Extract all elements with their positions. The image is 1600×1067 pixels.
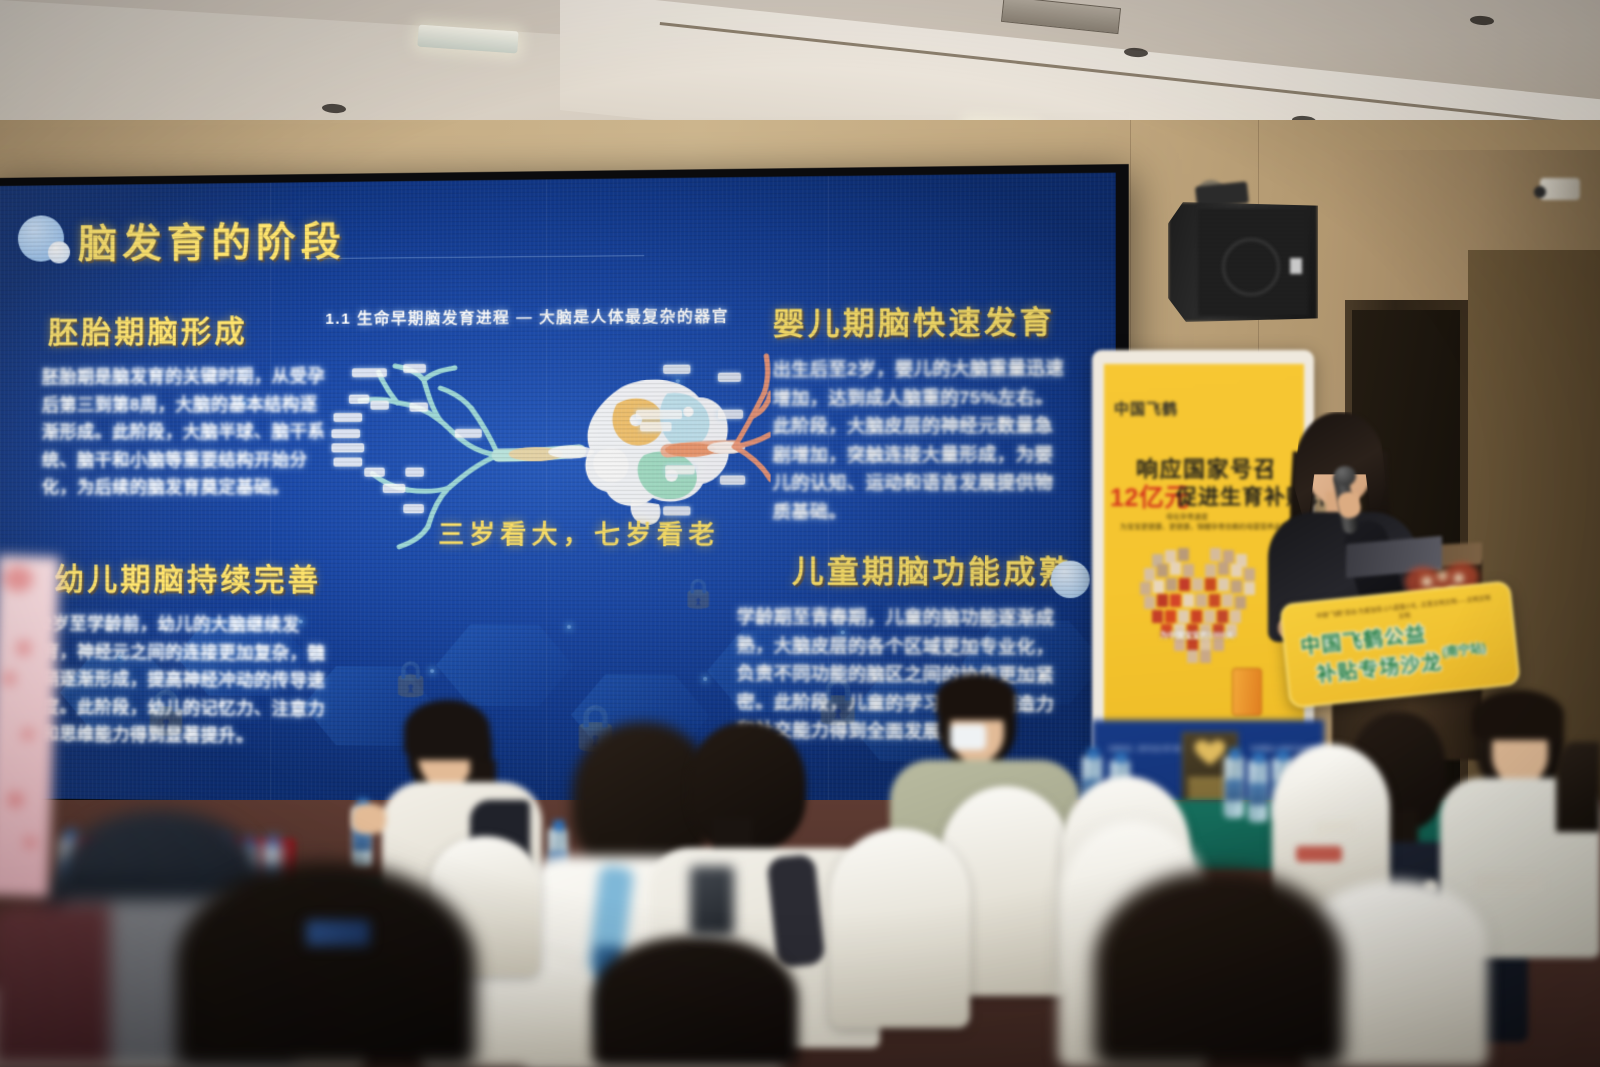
neuron-label <box>383 484 406 493</box>
ceiling-vent <box>1001 0 1121 34</box>
rollup-brand-logo: 中国飞鹤 <box>1114 398 1178 419</box>
neuron-label <box>331 443 364 452</box>
section-body-toddler: 2岁至学龄前，幼儿的大脑继续发育，神经元之间的连接更加复杂，髓鞘逐渐形成，提高神… <box>42 610 331 751</box>
camera-lens-icon <box>1534 186 1546 198</box>
neuron-label <box>720 475 745 484</box>
phone-in-hand <box>690 866 734 936</box>
banquet-chair <box>830 828 970 1028</box>
slide-decor-circle <box>1051 561 1090 599</box>
section-heading-toddler: 幼儿期脑持续完善 <box>54 554 321 599</box>
rollup-fineprint-1: 母化孕育速度 <box>1166 512 1208 522</box>
neuron-label <box>333 457 362 466</box>
section-body-infant: 出生后至2岁，婴儿的大脑重量迅速增加，达到成人脑重的75%左右。此阶段，大脑皮层… <box>773 354 1070 526</box>
item-on-table <box>1296 846 1342 862</box>
rollup-heart-caption: 为中国宝宝的1000天 <box>1160 630 1234 641</box>
section-heading-infant: 婴儿期脑快速发育 <box>773 296 1055 343</box>
neuron-label <box>718 373 741 382</box>
gold-heart-icon <box>1192 738 1228 766</box>
pa-speaker-badge <box>1290 258 1302 274</box>
neuron-label <box>403 364 426 373</box>
neuron-label <box>663 365 690 374</box>
neuron-label <box>331 429 360 438</box>
neuron-label <box>370 401 388 410</box>
paper-on-table <box>1316 822 1356 836</box>
neuron-label <box>409 402 428 411</box>
neuron-label <box>636 410 682 419</box>
tablet-on-table <box>306 920 370 946</box>
neuron-label <box>405 468 424 477</box>
neuron-label <box>403 504 424 513</box>
slide-title-bullet-small-icon <box>48 241 70 263</box>
slide-subtitle: 1.1 生命早期脑发育进程 — 大脑是人体最复杂的器官 <box>325 305 729 329</box>
ceiling-downlight <box>1470 15 1495 26</box>
product-can <box>1232 668 1262 716</box>
section-heading-child: 儿童期脑功能成熟 <box>792 545 1075 591</box>
section-body-embryo: 胚胎期是脑发育的关键时期，从受孕后第三到第8周，大脑的基本结构逐渐形成。此阶段，… <box>42 362 325 501</box>
neuron-label <box>364 468 385 477</box>
neuron-label <box>665 465 694 474</box>
security-camera <box>1540 178 1580 200</box>
rollup-photo-heart-collage <box>1128 540 1278 665</box>
section-heading-embryo: 胚胎期脑形成 <box>48 306 248 352</box>
neuron-label <box>640 422 671 431</box>
paper-on-table <box>1474 874 1544 892</box>
neuron-label <box>349 395 370 404</box>
neuron-label <box>333 413 362 422</box>
neuron-label <box>455 429 482 438</box>
microphone-head-icon <box>1334 466 1356 486</box>
neuron-label <box>718 410 743 419</box>
neuron-label <box>352 368 387 377</box>
water-bottle <box>1248 760 1268 822</box>
water-bottle <box>1224 756 1244 818</box>
rollup-fineprint-2: 为宝宝更健康、更健康，锦鲤孕育信赖的母婴营养品领者 <box>1120 522 1295 532</box>
photo-scene: 🔒 🔒 🔒 🔒 🔒 脑发育的阶段 1.1 生命早期脑发育进程 — 大脑是人体最复… <box>0 0 1600 1067</box>
pa-speaker-cone <box>1222 238 1280 296</box>
slide-title: 脑发育的阶段 <box>78 210 346 269</box>
slide-proverb: 三岁看大，七岁看老 <box>438 514 720 551</box>
